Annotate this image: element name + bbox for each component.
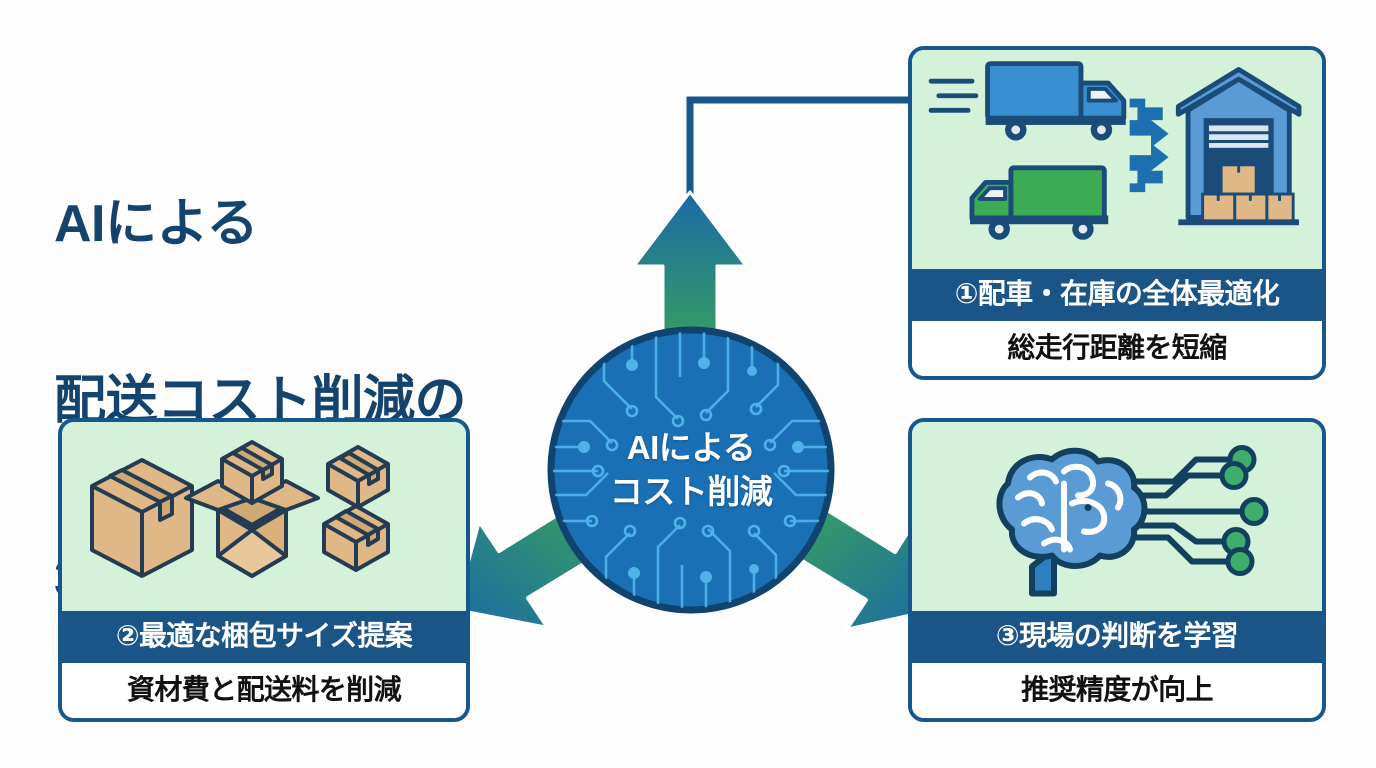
card-field-decision-learning[interactable]: ③現場の判断を学習 推奨精度が向上 — [908, 418, 1326, 722]
card-optimal-packaging-size[interactable]: ②最適な梱包サイズ提案 資材費と配送料を削減 — [58, 418, 470, 722]
card3-illustration — [912, 422, 1322, 611]
card2-sub-label: 資材費と配送料を削減 — [62, 663, 466, 718]
blue-truck-icon — [986, 64, 1126, 141]
warehouse-icon — [1178, 69, 1299, 225]
green-truck-icon — [970, 168, 1108, 240]
card1-sub-label: 総走行距離を短縮 — [912, 321, 1322, 376]
card2-illustration — [62, 422, 466, 611]
speed-lines-icon — [931, 81, 976, 110]
small-box-icon — [324, 506, 388, 570]
shutter-door-icon — [1208, 124, 1270, 149]
title-line-1: AIによる — [54, 195, 466, 254]
card1-band-label: ①配車・在庫の全体最適化 — [912, 269, 1322, 321]
circuit-circle-icon — [546, 325, 836, 615]
closed-carton-icon — [92, 460, 192, 576]
card1-illustration — [912, 50, 1322, 269]
connector-card1-to-arrow-icon — [690, 100, 908, 193]
brain-icon — [999, 451, 1144, 594]
infographic-canvas: AIによる 配送コスト削減の 3つの仕組み — [0, 0, 1376, 768]
card3-sub-label: 推奨精度が向上 — [912, 663, 1322, 718]
center-node: AIによる コスト削減 — [546, 325, 836, 615]
flow-arrow-icon — [1130, 99, 1169, 192]
small-box-icon — [328, 447, 388, 507]
card-dispatch-inventory-optimization[interactable]: ①配車・在庫の全体最適化 総走行距離を短縮 — [908, 46, 1326, 380]
card2-band-label: ②最適な梱包サイズ提案 — [62, 611, 466, 663]
card3-band-label: ③現場の判断を学習 — [912, 611, 1322, 663]
